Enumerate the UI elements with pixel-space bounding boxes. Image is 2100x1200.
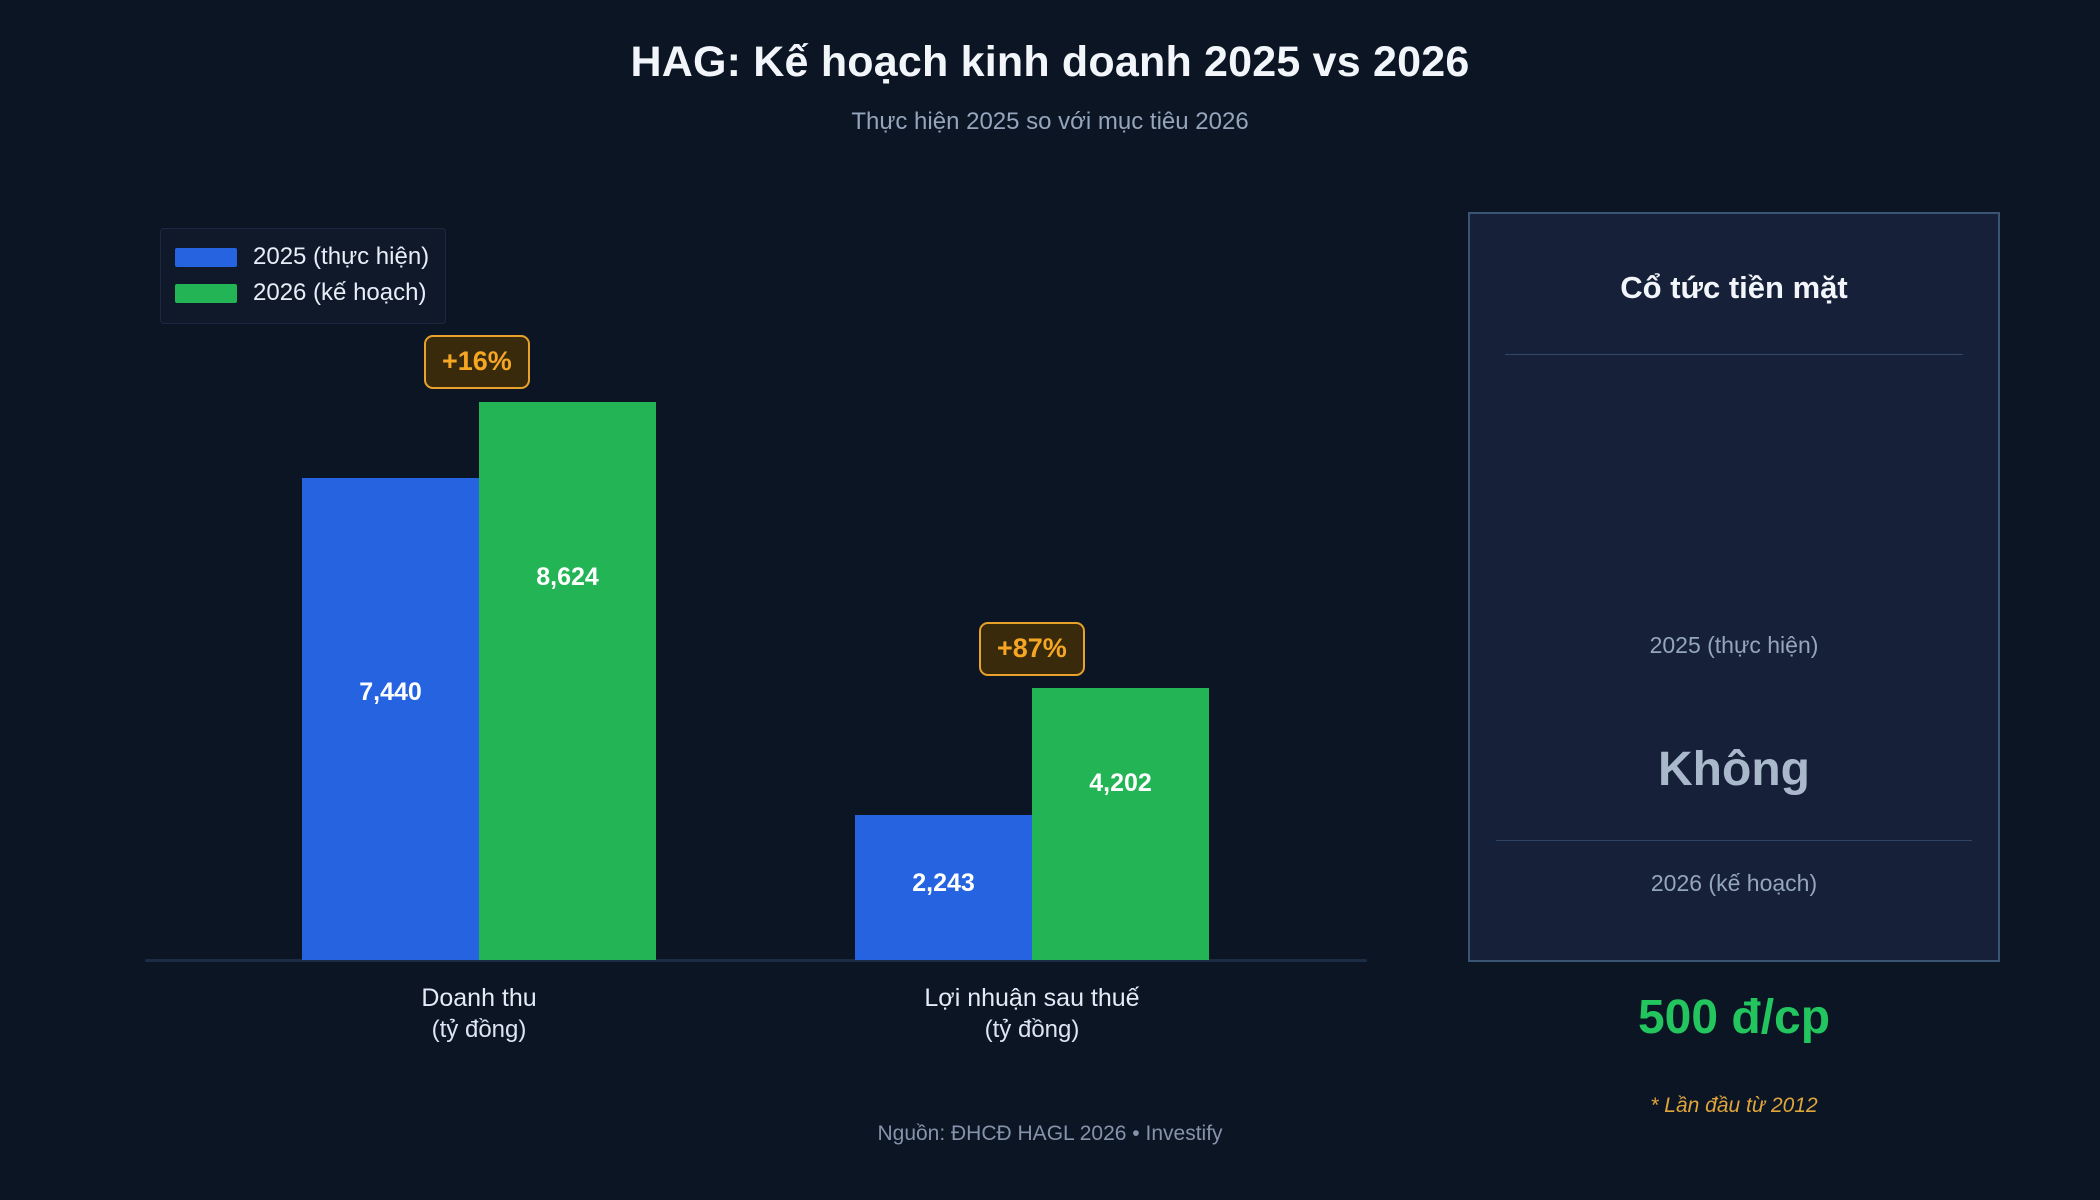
dividend-value-2025: Không — [1470, 742, 1998, 797]
bar-value-2025-loi-nhuan: 2,243 — [855, 869, 1032, 898]
dividend-label-2026: 2026 (kế hoạch) — [1470, 870, 1998, 897]
dividend-footnote: * Lần đầu từ 2012 — [1470, 1094, 1998, 1118]
bar-2025-doanh-thu[interactable]: 7,440 — [302, 478, 479, 960]
bar-2026-loi-nhuan[interactable]: 4,202 — [1032, 688, 1209, 960]
bar-value-2026-doanh-thu: 8,624 — [479, 563, 656, 592]
dividend-card-title: Cổ tức tiền mặt — [1470, 270, 1998, 306]
dividend-card-divider-mid — [1496, 840, 1972, 841]
chart-canvas: HAG: Kế hoạch kinh doanh 2025 vs 2026 Th… — [0, 0, 2100, 1200]
plot-area: 7,440 8,624 +16% Doanh thu (tỷ đồng) 2,2… — [0, 0, 1420, 1200]
category-label-loi-nhuan: Lợi nhuận sau thuế (tỷ đồng) — [855, 984, 1209, 1044]
dividend-card: Cổ tức tiền mặt 2025 (thực hiện) Không 2… — [1468, 212, 2000, 962]
bar-value-2025-doanh-thu: 7,440 — [302, 678, 479, 707]
category-name-loi-nhuan: Lợi nhuận sau thuế — [924, 984, 1139, 1012]
bar-value-2026-loi-nhuan: 4,202 — [1032, 769, 1209, 798]
dividend-card-divider-top — [1505, 354, 1963, 355]
growth-badge-doanh-thu: +16% — [424, 335, 530, 389]
bar-2026-doanh-thu[interactable]: 8,624 — [479, 402, 656, 960]
category-name-doanh-thu: Doanh thu — [421, 984, 536, 1012]
growth-badge-loi-nhuan: +87% — [979, 622, 1085, 676]
source-footer: Nguồn: ĐHCĐ HAGL 2026 • Investify — [0, 1122, 2100, 1146]
dividend-label-2025: 2025 (thực hiện) — [1470, 632, 1998, 659]
category-unit-doanh-thu: (tỷ đồng) — [302, 1017, 656, 1044]
category-unit-loi-nhuan: (tỷ đồng) — [855, 1017, 1209, 1044]
dividend-value-2026: 500 đ/cp — [1470, 990, 1998, 1045]
category-label-doanh-thu: Doanh thu (tỷ đồng) — [302, 984, 656, 1044]
bar-2025-loi-nhuan[interactable]: 2,243 — [855, 815, 1032, 960]
